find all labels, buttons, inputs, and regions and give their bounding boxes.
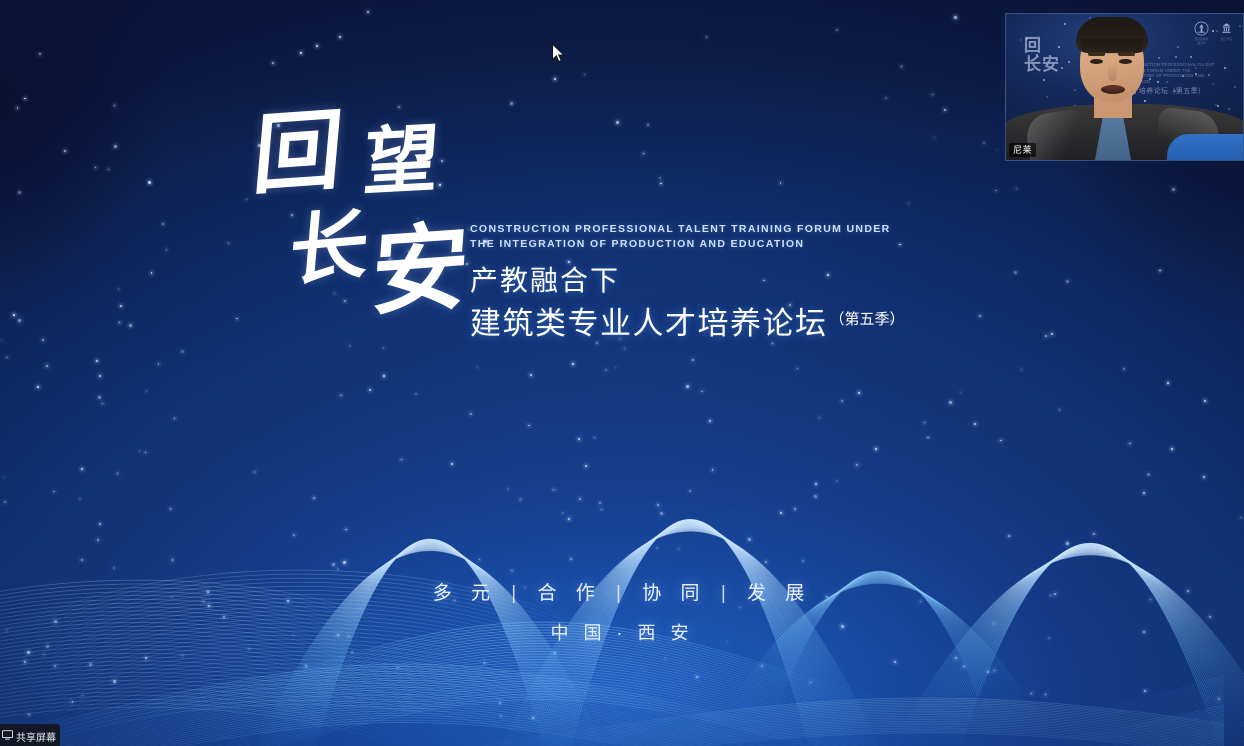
slogan-separator-3: | [719, 583, 735, 604]
season-badge: （第五季） [830, 300, 905, 344]
chinese-title-line-2: 建筑类专业人才培养论坛 [470, 304, 828, 344]
calligraphy-logo: 回 望 长 安 [252, 105, 464, 340]
calligraphy-char-3: 长 [286, 207, 372, 292]
screen-share-icon [2, 730, 13, 740]
slogan-word-3: 协 同 [642, 583, 706, 604]
screen-share-slide: 回 望 长 安 CONSTRUCTION PROFESSIONAL TALENT… [0, 0, 1244, 746]
event-location: 中 国 · 西 安 [0, 619, 1244, 645]
chinese-title-line-1: 产教融合下 [470, 264, 940, 298]
slogan-row: 多 元 | 合 作 | 协 同 | 发 展 [0, 578, 1244, 605]
video-participant-tile[interactable]: 回 长安 CONSTRUCTION PROFESSIONAL TALENT TR… [1005, 13, 1244, 161]
slogan-word-1: 多 元 [433, 583, 497, 604]
participant-chair [1167, 134, 1243, 160]
participant-mouth [1101, 85, 1125, 94]
slogan-word-2: 合 作 [537, 583, 601, 604]
slogan-separator-1: | [509, 583, 525, 604]
participant-eye-left [1090, 59, 1103, 64]
participant-video-image [1006, 14, 1243, 160]
calligraphy-char-2: 望 [361, 123, 441, 201]
share-screen-label: 共享屏幕 [16, 733, 56, 744]
participant-name-badge: 尼莱 [1009, 143, 1036, 157]
participant-hair [1076, 17, 1148, 53]
share-screen-toolbar[interactable]: 共享屏幕 [0, 724, 60, 746]
english-subtitle-line-1: CONSTRUCTION PROFESSIONAL TALENT TRAININ… [470, 222, 940, 237]
slogan-word-4: 发 展 [747, 583, 811, 604]
participant-nose [1108, 66, 1117, 81]
slogan-separator-2: | [614, 583, 630, 604]
calligraphy-char-1: 回 [250, 108, 347, 202]
calligraphy-char-4: 安 [368, 220, 471, 322]
participant-eyebrow-left [1088, 52, 1105, 56]
forum-title-block: CONSTRUCTION PROFESSIONAL TALENT TRAININ… [470, 222, 940, 344]
participant-eyebrow-right [1118, 52, 1135, 56]
english-subtitle-line-2: THE INTEGRATION OF PRODUCTION AND EDUCAT… [470, 237, 940, 252]
participant-eye-right [1119, 59, 1132, 64]
chinese-title-line-2-row: 建筑类专业人才培养论坛 （第五季） [470, 300, 940, 344]
